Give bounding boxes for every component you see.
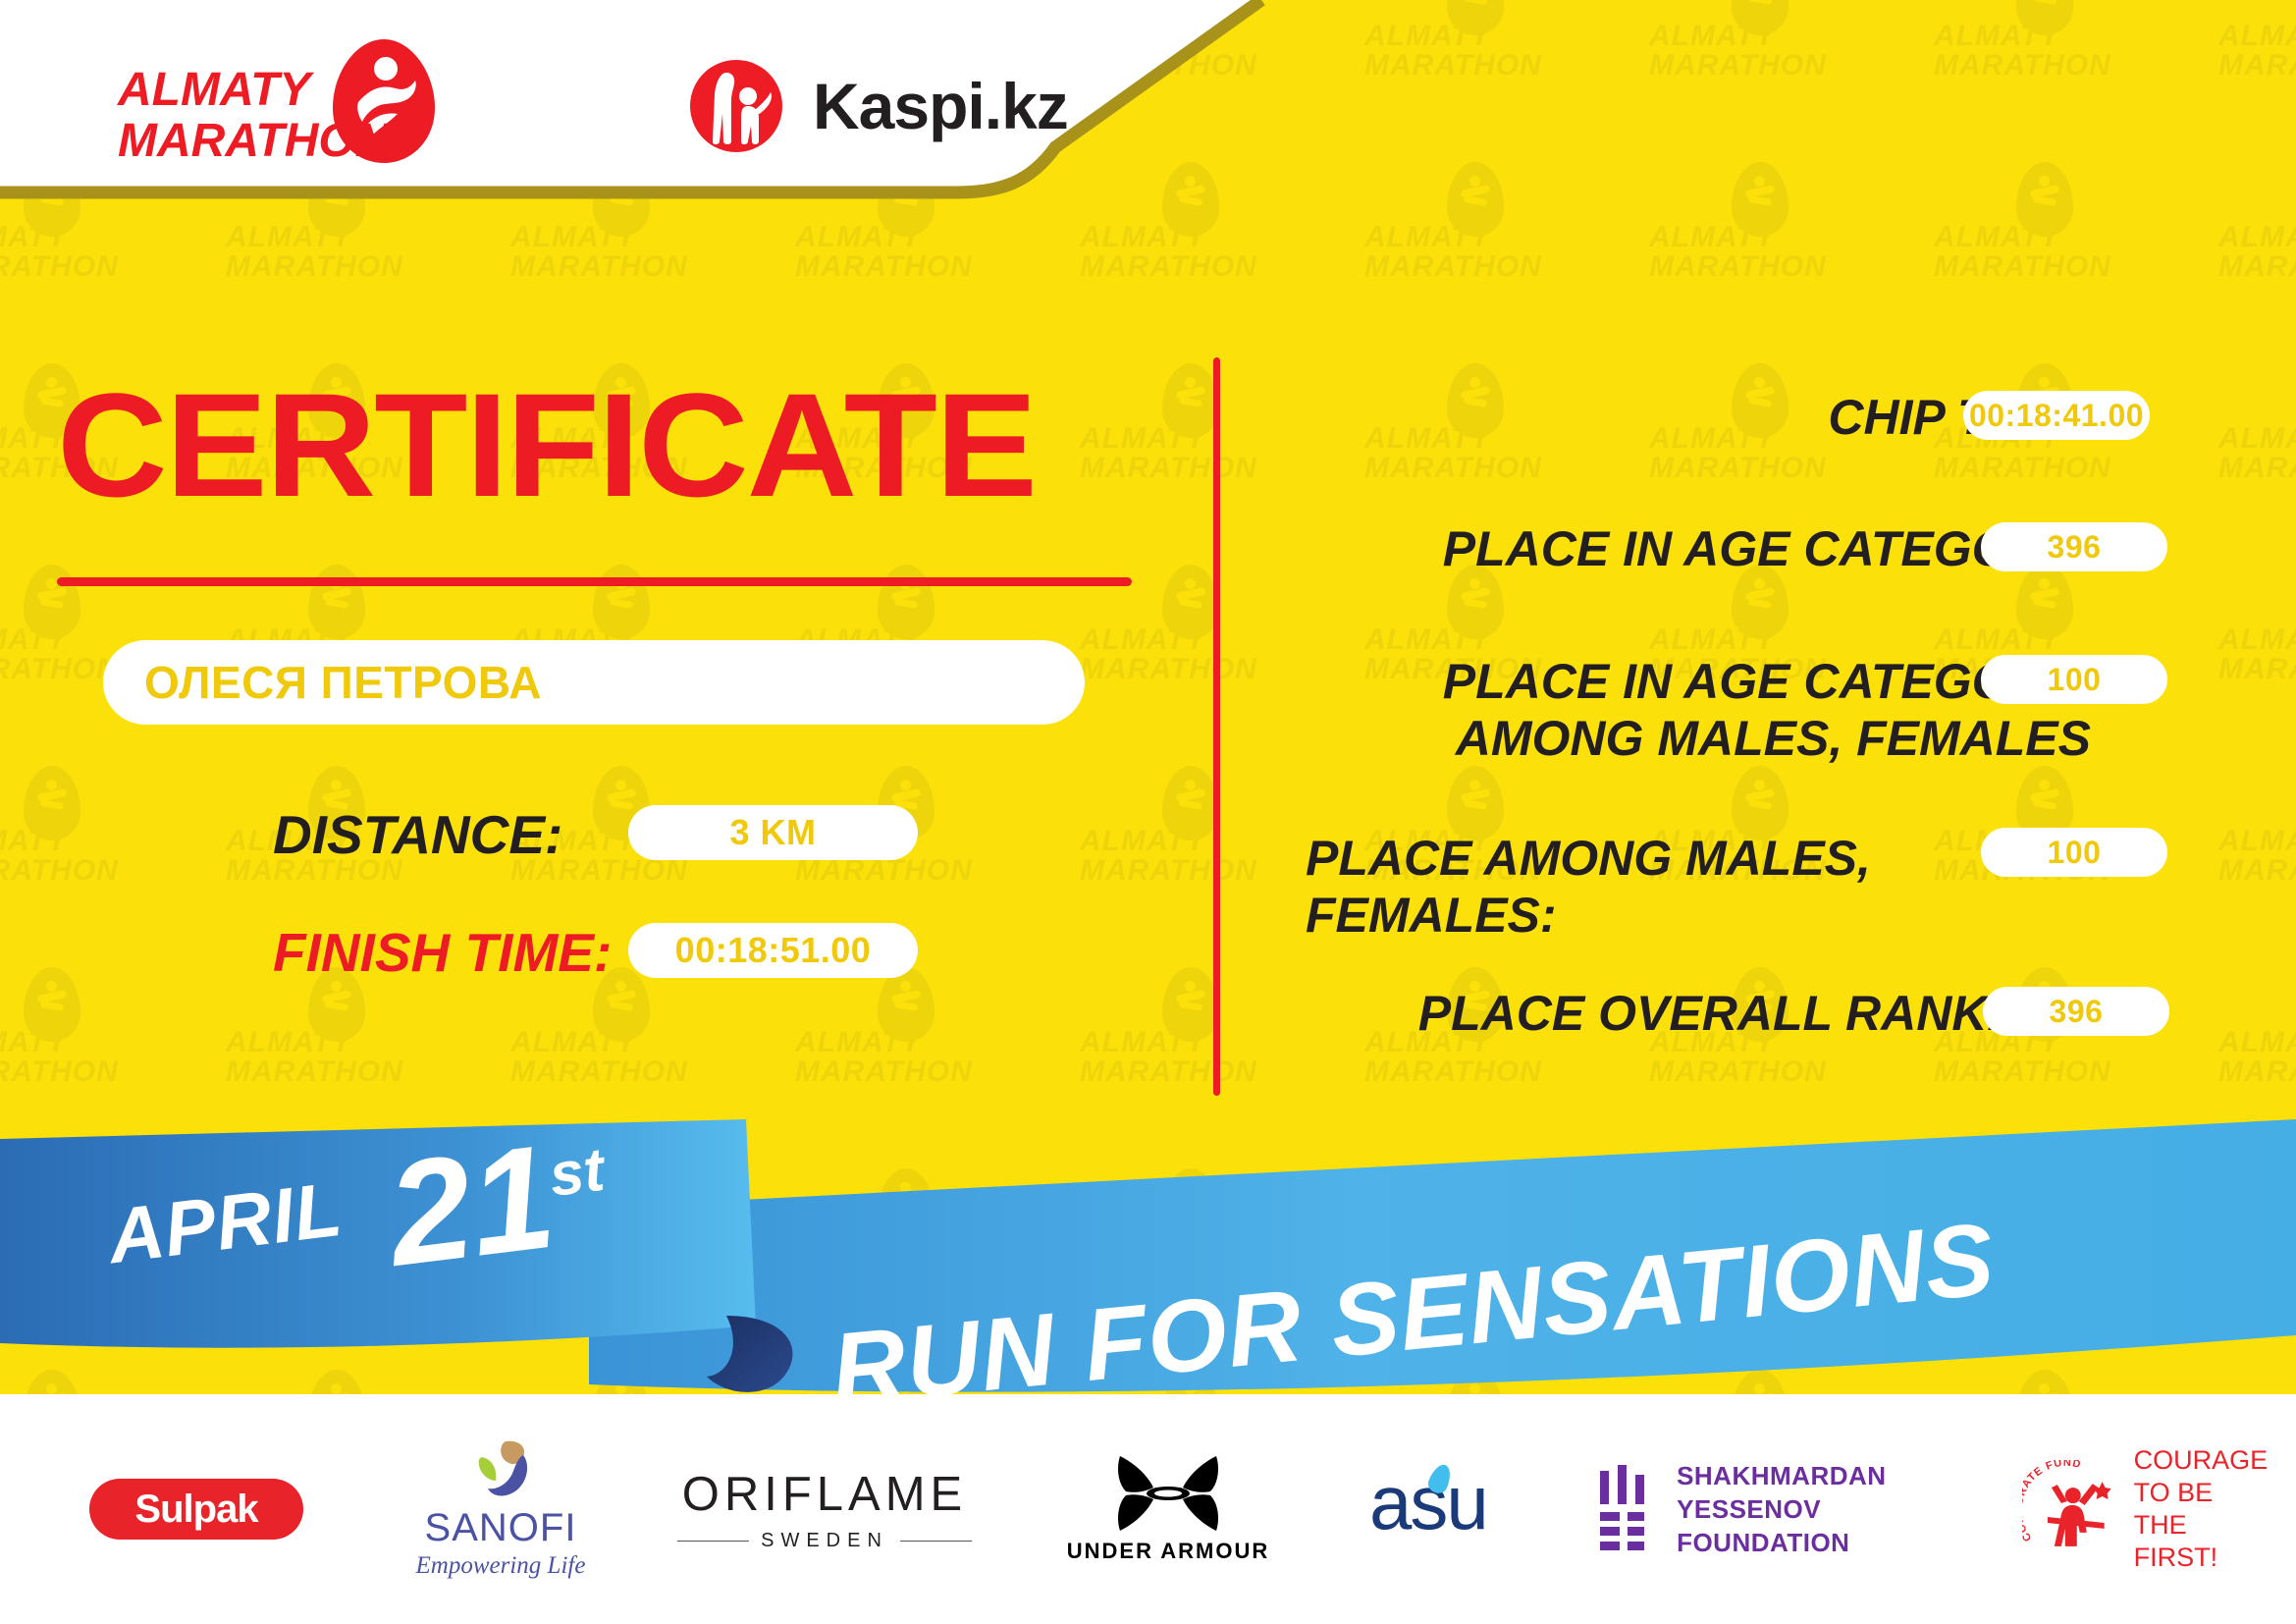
watermark-tile: ALMATYMARATHON xyxy=(1934,0,2130,108)
finish-time-label: FINISH TIME: xyxy=(273,921,612,984)
finish-time-value: 00:18:51.00 xyxy=(675,930,872,971)
sponsor-sulpak: Sulpak xyxy=(69,1394,324,1624)
stat-value: 00:18:41.00 xyxy=(1969,398,2144,434)
divider-line-left xyxy=(677,1541,749,1542)
distance-value: 3 KM xyxy=(729,812,816,853)
stat-value-place-age-category: 396 xyxy=(1981,522,2167,571)
oriflame-wordmark: ORIFLAME xyxy=(682,1467,967,1522)
divider-line-right xyxy=(900,1541,972,1542)
distance-field: 3 KM xyxy=(628,805,918,860)
watermark-tile: ALMATYMARATHON xyxy=(2218,363,2296,511)
watermark-tile: ALMATYMARATHON xyxy=(1364,162,1561,309)
oriflame-country: SWEDEN xyxy=(761,1530,888,1552)
sanofi-wordmark: SANOFI xyxy=(425,1506,577,1550)
ribbon-day: 21st xyxy=(379,1097,615,1288)
sponsor-strip: Sulpak SANOFI Empowering Life ORIFLAME S… xyxy=(0,1394,2296,1624)
finish-time-field: 00:18:51.00 xyxy=(628,923,918,978)
stat-value-place-overall: 396 xyxy=(1983,987,2169,1036)
ribbon-day-number: 21 xyxy=(380,1113,562,1297)
distance-label: DISTANCE: xyxy=(273,803,562,866)
certificate-page: ALMATYMARATHONALMATYMARATHONALMATYMARATH… xyxy=(0,0,2296,1624)
watermark-tile: ALMATYMARATHON xyxy=(2218,565,2296,712)
column-divider xyxy=(1213,357,1220,1096)
watermark-tile: ALMATYMARATHON xyxy=(1080,565,1276,712)
asu-wordmark: asu xyxy=(1369,1460,1536,1544)
stat-value-chip-time: 00:18:41.00 xyxy=(1963,391,2150,440)
watermark-tile: ALMATYMARATHON xyxy=(1934,162,2130,309)
stat-label: PLACE OVERALL RANKING: xyxy=(1306,985,2091,1042)
sulpak-wordmark: Sulpak xyxy=(134,1488,257,1532)
watermark-tile: ALMATYMARATHON xyxy=(1649,0,1845,108)
watermark-tile: ALMATYMARATHON xyxy=(2218,766,2296,913)
stat-label: PLACE AMONG MALES, FEMALES: xyxy=(1306,830,2091,944)
watermark-tile: ALMATYMARATHON xyxy=(1080,363,1276,511)
ribbon-day-suffix: st xyxy=(546,1136,608,1210)
watermark-tile: ALMATYMARATHON xyxy=(1649,162,1845,309)
almaty-marathon-logo: ALMATY MARATHON xyxy=(118,47,442,155)
runner-name-field: ОЛЕСЯ ПЕТРОВА xyxy=(103,640,1085,725)
sanofi-logo xyxy=(466,1439,535,1500)
kaspi-figures-icon xyxy=(687,57,785,155)
courage-fund-logo: CORPORATE FUND xyxy=(2022,1460,2120,1558)
stat-label: PLACE IN AGE CATEGORY: AMONG MALES, FEMA… xyxy=(1306,653,2091,767)
title-underline xyxy=(57,577,1132,586)
almaty-marathon-wordmark: ALMATY MARATHON xyxy=(118,65,389,167)
stat-label: PLACE IN AGE CATEGORY: xyxy=(1306,520,2091,577)
stat-value: 100 xyxy=(2048,662,2102,698)
sanofi-tagline: Empowering Life xyxy=(416,1552,586,1580)
stat-row-place-among-gender: PLACE AMONG MALES, FEMALES: xyxy=(1306,830,2091,944)
sponsor-asu: asu xyxy=(1345,1394,1561,1624)
stat-row-place-age-category-gender: PLACE IN AGE CATEGORY: AMONG MALES, FEMA… xyxy=(1306,653,2091,767)
yessenov-foundation-wordmark: SHAKHMARDAN YESSENOV FOUNDATION xyxy=(1677,1459,2012,1559)
stat-value-place-among-gender: 100 xyxy=(1981,828,2167,877)
stat-row-place-overall: PLACE OVERALL RANKING: xyxy=(1306,985,2091,1042)
stat-value-place-age-category-gender: 100 xyxy=(1981,655,2167,704)
courage-fund-tagline: COURAGE TO BE THE FIRST! xyxy=(2134,1444,2277,1574)
stat-row-place-age-category: PLACE IN AGE CATEGORY: xyxy=(1306,520,2091,577)
sponsor-sanofi: SANOFI Empowering Life xyxy=(373,1394,628,1624)
stat-value: 100 xyxy=(2048,835,2102,871)
asu-logo: asu xyxy=(1369,1460,1536,1558)
page-title: CERTIFICATE xyxy=(57,371,1036,518)
watermark-tile: ALMATYMARATHON xyxy=(2218,162,2296,309)
sponsor-yessenov-foundation: SHAKHMARDAN YESSENOV FOUNDATION xyxy=(1600,1394,2012,1624)
watermark-tile: ALMATYMARATHON xyxy=(0,766,137,913)
watermark-tile: ALMATYMARATHON xyxy=(1080,766,1276,913)
sponsor-courage-fund: CORPORATE FUND COURAGE TO BE THE FIRST! xyxy=(2022,1394,2277,1624)
yessenov-foundation-logo xyxy=(1600,1465,1651,1553)
sponsor-under-armour: UNDER ARMOUR xyxy=(1045,1394,1291,1624)
runner-name-value: ОЛЕСЯ ПЕТРОВА xyxy=(144,656,542,709)
under-armour-wordmark: UNDER ARMOUR xyxy=(1067,1539,1270,1564)
stat-value: 396 xyxy=(2048,529,2102,566)
sulpak-logo: Sulpak xyxy=(89,1479,303,1540)
under-armour-logo xyxy=(1110,1454,1226,1533)
stat-value: 396 xyxy=(2050,994,2104,1030)
kaspi-logo: Kaspi.kz xyxy=(687,57,1068,155)
watermark-tile: ALMATYMARATHON xyxy=(1364,0,1561,108)
watermark-tile: ALMATYMARATHON xyxy=(2218,0,2296,108)
sponsor-oriflame: ORIFLAME SWEDEN xyxy=(677,1394,972,1624)
kaspi-wordmark: Kaspi.kz xyxy=(813,69,1068,143)
oriflame-sub: SWEDEN xyxy=(677,1530,972,1552)
